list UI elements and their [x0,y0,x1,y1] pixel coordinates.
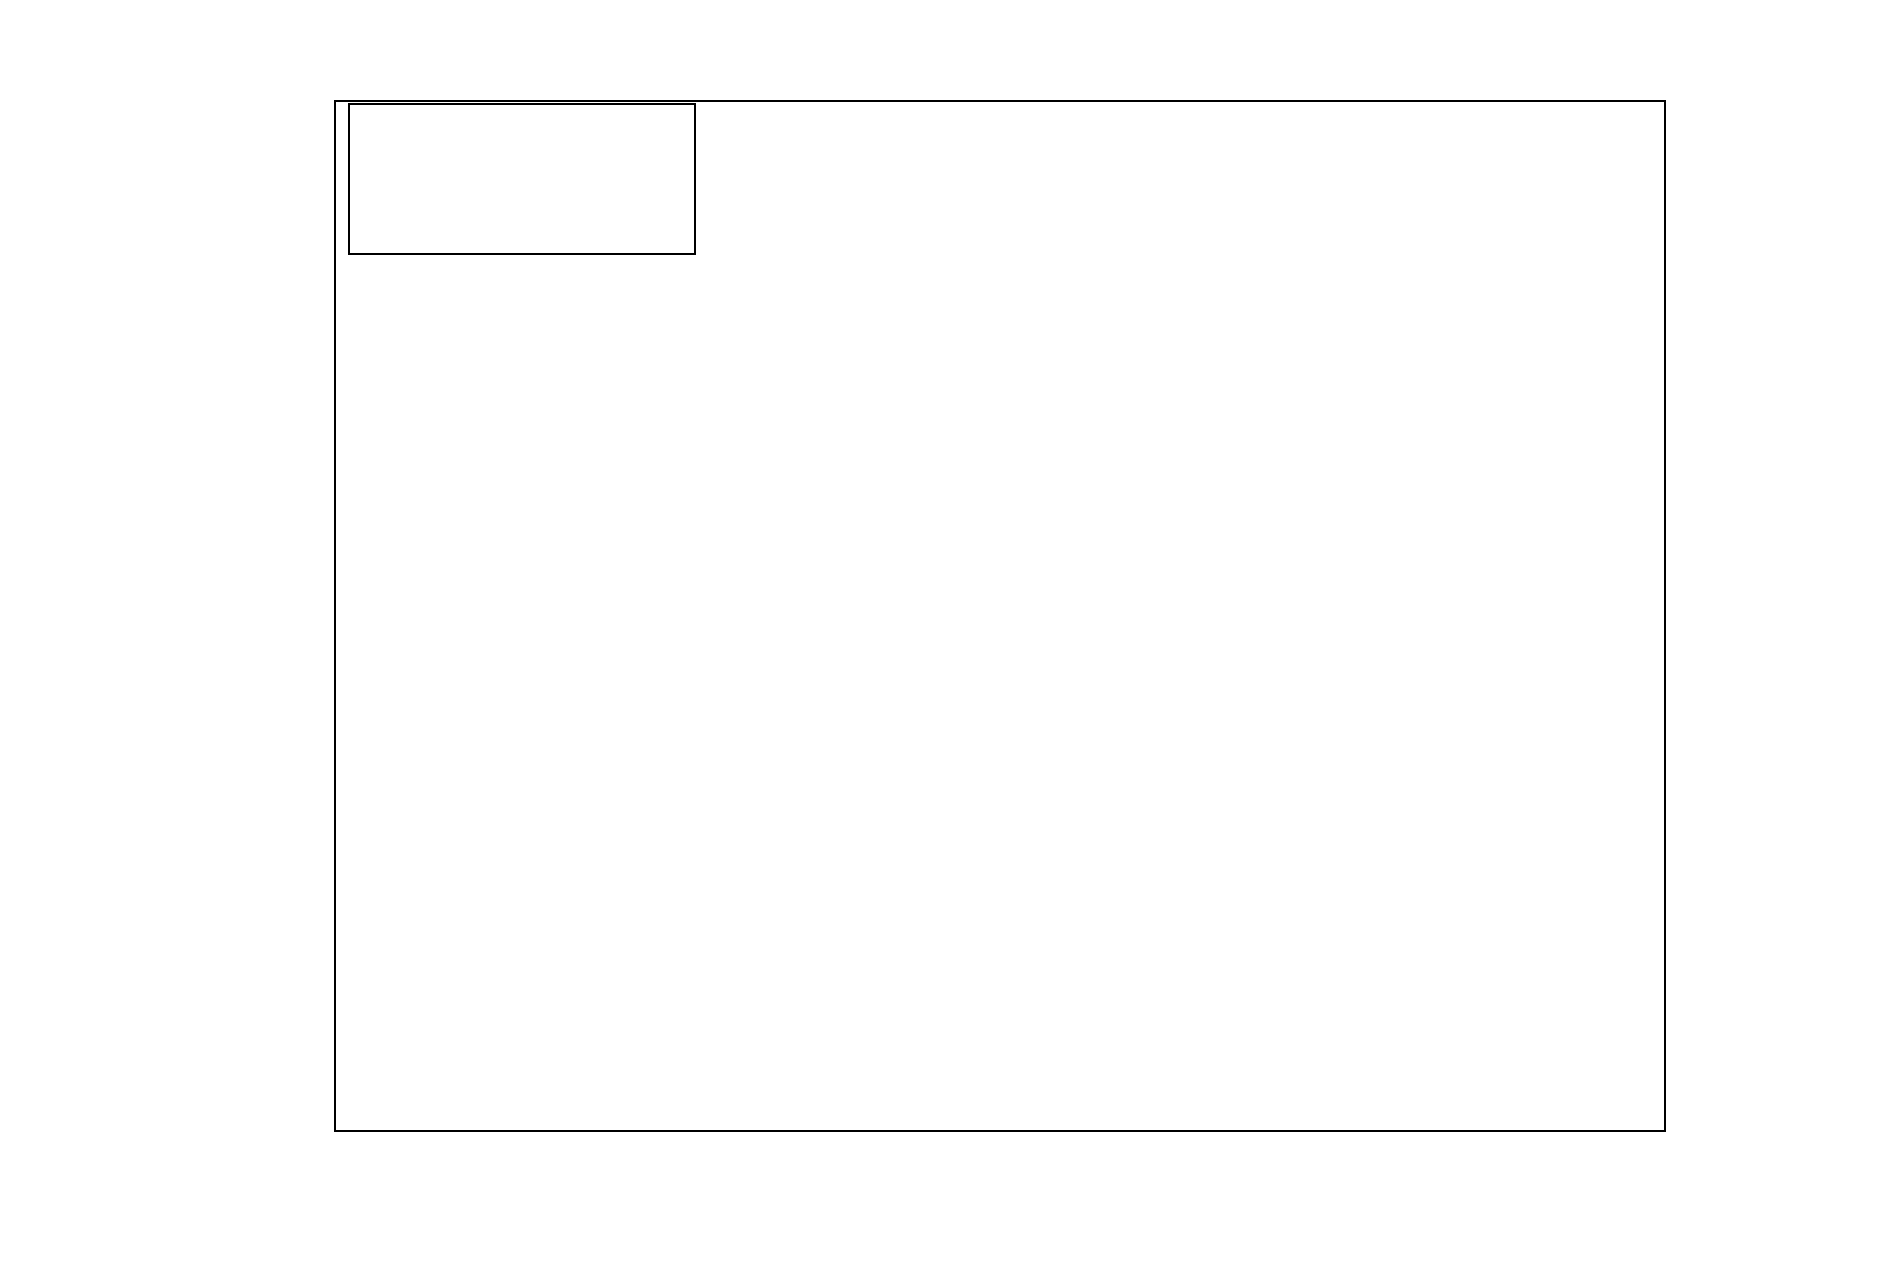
figure-canvas [0,0,1891,1262]
data-series-layer [336,102,1668,1134]
legend-box [348,103,696,255]
